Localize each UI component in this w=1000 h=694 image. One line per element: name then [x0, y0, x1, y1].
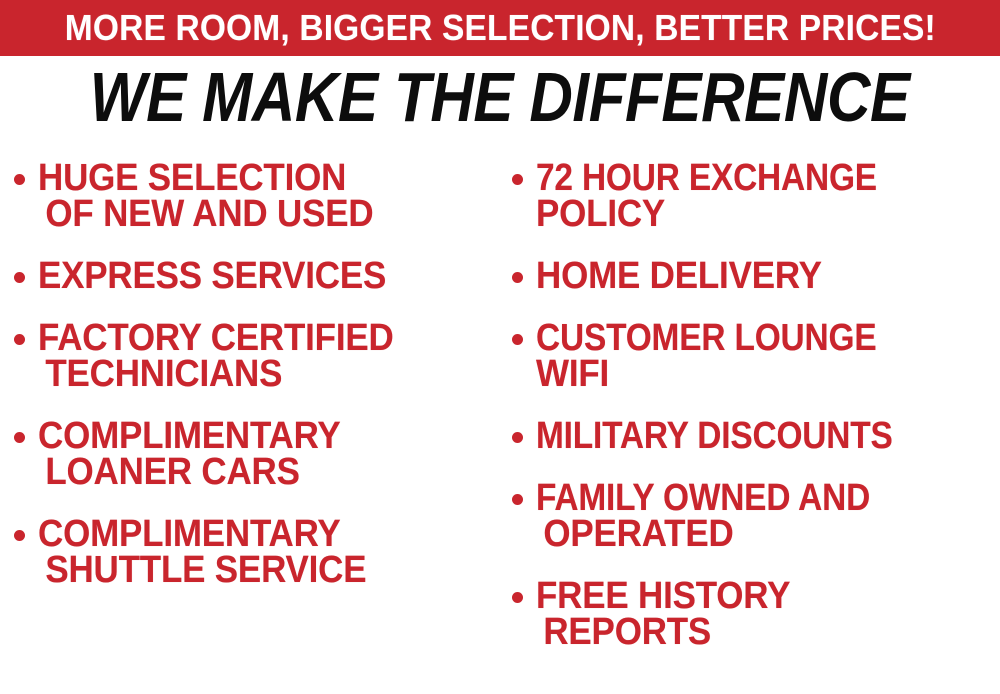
bullet-dot-icon	[512, 592, 523, 603]
list-item-line: LOANER CARS	[38, 454, 471, 490]
list-item-line: OPERATED	[536, 516, 963, 552]
list-item-text: COMPLIMENTARY SHUTTLE SERVICE	[38, 516, 509, 588]
promo-banner: MORE ROOM, BIGGER SELECTION, BETTER PRIC…	[0, 0, 1000, 56]
list-item-text: COMPLIMENTARY LOANER CARS	[38, 418, 509, 490]
list-item: EXPRESS SERVICES	[14, 258, 509, 294]
benefits-column-right: 72 HOUR EXCHANGE POLICY HOME DELIVERY CU…	[512, 160, 1000, 676]
bullet-dot-icon	[14, 334, 25, 345]
headline-text: WE MAKE THE DIFFERENCE	[90, 62, 910, 132]
list-item-line: 72 HOUR EXCHANGE	[536, 160, 944, 196]
list-item-line: FACTORY CERTIFIED	[38, 320, 471, 356]
list-item-line: EXPRESS SERVICES	[38, 258, 471, 294]
bullet-dot-icon	[512, 494, 523, 505]
list-item-line: COMPLIMENTARY	[38, 418, 471, 454]
list-item-line: POLICY	[536, 196, 963, 232]
list-item-text: HOME DELIVERY	[536, 258, 1000, 294]
list-item-line: MILITARY DISCOUNTS	[536, 418, 944, 454]
list-item: HOME DELIVERY	[512, 258, 1000, 294]
list-item-line: OF NEW AND USED	[38, 196, 471, 232]
list-item-line: FREE HISTORY	[536, 578, 963, 614]
list-item-line: HOME DELIVERY	[536, 258, 963, 294]
bullet-dot-icon	[14, 174, 25, 185]
promo-banner-text: MORE ROOM, BIGGER SELECTION, BETTER PRIC…	[64, 10, 935, 46]
bullet-dot-icon	[14, 272, 25, 283]
list-item-text: CUSTOMER LOUNGE WIFI	[536, 320, 1000, 392]
list-item-line: REPORTS	[536, 614, 963, 650]
benefits-column-left: HUGE SELECTION OF NEW AND USED EXPRESS S…	[14, 160, 509, 614]
list-item: COMPLIMENTARY SHUTTLE SERVICE	[14, 516, 509, 588]
list-item-line: CUSTOMER LOUNGE	[536, 320, 944, 356]
list-item-text: FREE HISTORY REPORTS	[536, 578, 1000, 650]
bullet-dot-icon	[14, 530, 25, 541]
list-item-text: HUGE SELECTION OF NEW AND USED	[38, 160, 509, 232]
list-item-line: SHUTTLE SERVICE	[38, 552, 471, 588]
list-item-line: HUGE SELECTION	[38, 160, 471, 196]
list-item: FREE HISTORY REPORTS	[512, 578, 1000, 650]
list-item-line: TECHNICIANS	[38, 356, 471, 392]
list-item-text: MILITARY DISCOUNTS	[536, 418, 1000, 454]
list-item: CUSTOMER LOUNGE WIFI	[512, 320, 1000, 392]
list-item: COMPLIMENTARY LOANER CARS	[14, 418, 509, 490]
list-item: HUGE SELECTION OF NEW AND USED	[14, 160, 509, 232]
list-item-line: WIFI	[536, 356, 963, 392]
list-item: FACTORY CERTIFIED TECHNICIANS	[14, 320, 509, 392]
list-item-text: FACTORY CERTIFIED TECHNICIANS	[38, 320, 509, 392]
list-item-line: FAMILY OWNED AND	[536, 480, 944, 516]
bullet-dot-icon	[512, 334, 523, 345]
headline: WE MAKE THE DIFFERENCE	[0, 62, 1000, 132]
bullet-dot-icon	[512, 174, 523, 185]
list-item: FAMILY OWNED AND OPERATED	[512, 480, 1000, 552]
bullet-dot-icon	[14, 432, 25, 443]
list-item: MILITARY DISCOUNTS	[512, 418, 1000, 454]
list-item: 72 HOUR EXCHANGE POLICY	[512, 160, 1000, 232]
bullet-dot-icon	[512, 432, 523, 443]
list-item-line: COMPLIMENTARY	[38, 516, 471, 552]
list-item-text: EXPRESS SERVICES	[38, 258, 509, 294]
bullet-dot-icon	[512, 272, 523, 283]
list-item-text: FAMILY OWNED AND OPERATED	[536, 480, 1000, 552]
list-item-text: 72 HOUR EXCHANGE POLICY	[536, 160, 1000, 232]
